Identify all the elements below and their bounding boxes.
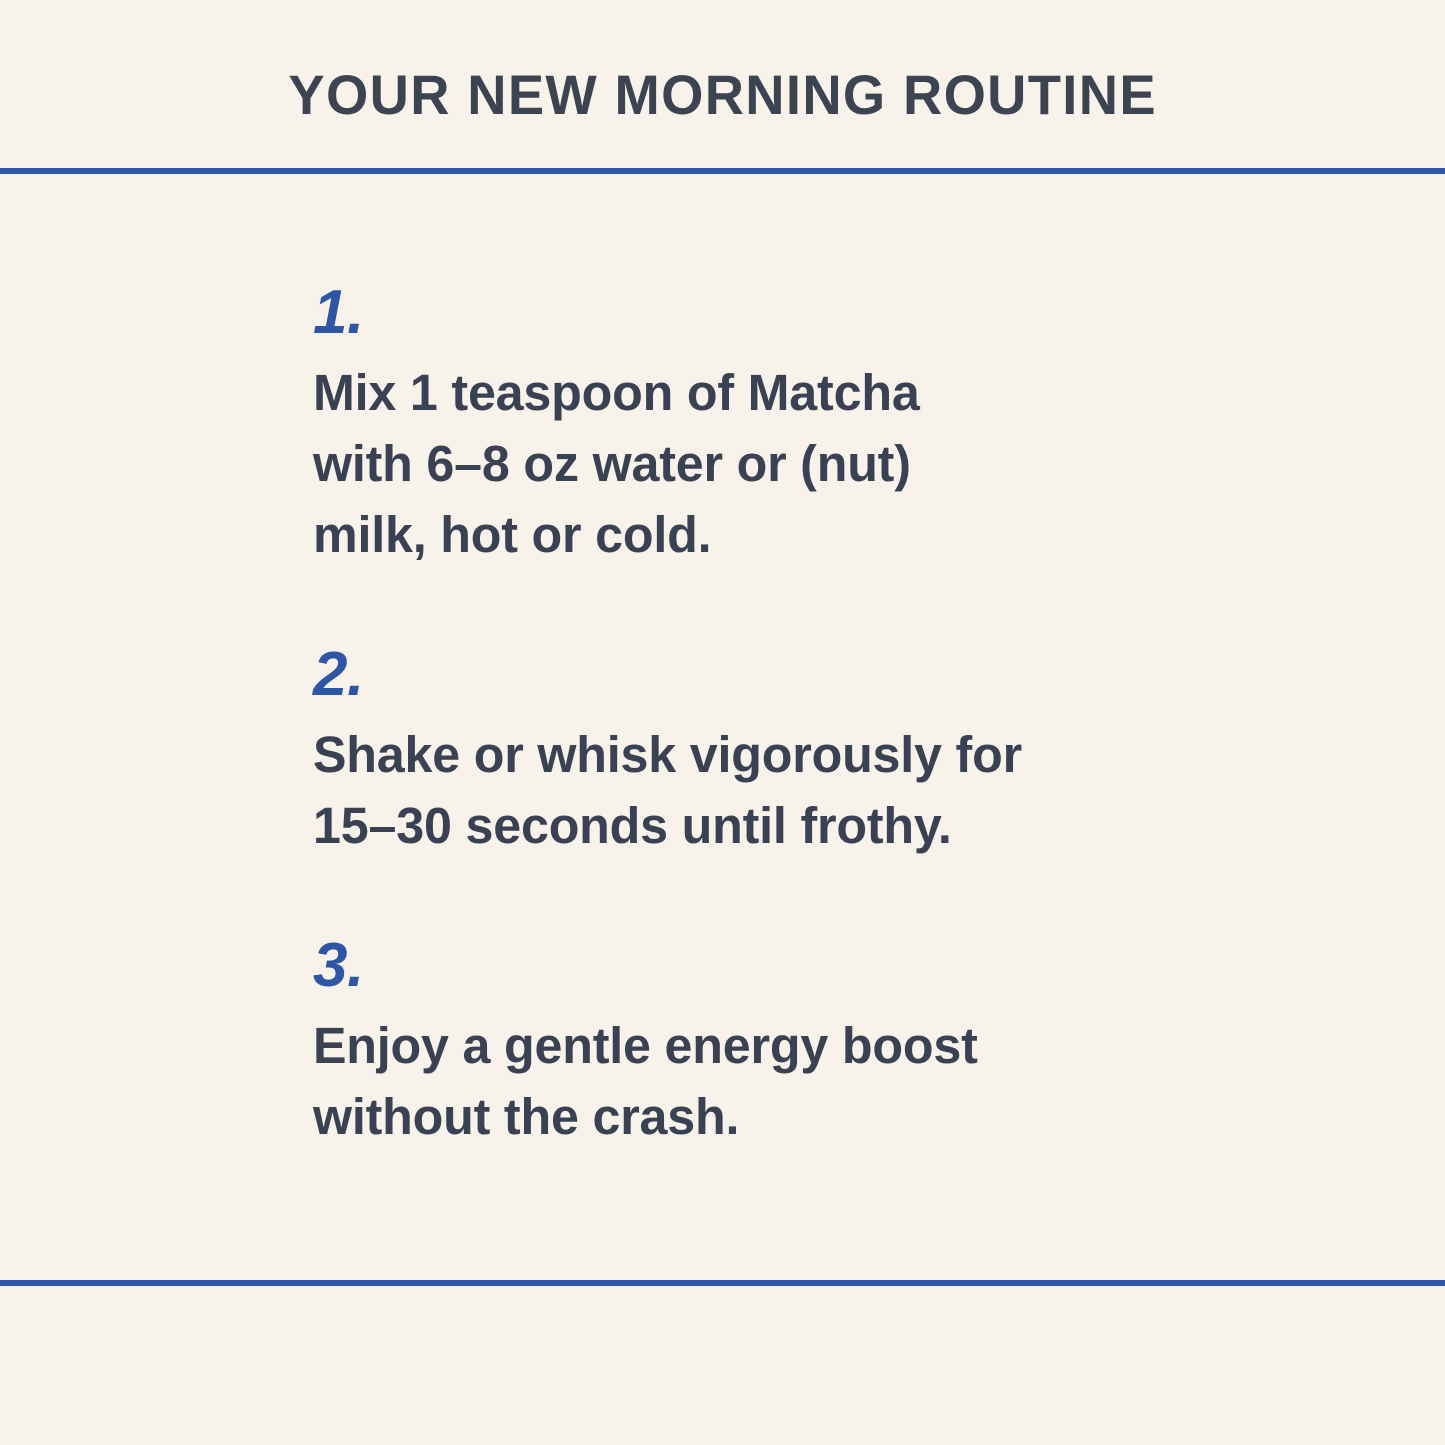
list-item: 2. Shake or whisk vigorously for 15–30 s… — [313, 646, 1445, 861]
page-title: YOUR NEW MORNING ROUTINE — [288, 45, 1157, 123]
poster-header: YOUR NEW MORNING ROUTINE — [0, 0, 1445, 168]
step-number-3: 3. — [313, 937, 1445, 994]
step-number-1: 1. — [313, 284, 1445, 341]
instruction-poster: YOUR NEW MORNING ROUTINE 1. Mix 1 teaspo… — [0, 0, 1445, 1445]
step-text-3: Enjoy a gentle energy boost without the … — [313, 1010, 1140, 1152]
step-number-2: 2. — [313, 646, 1445, 703]
steps-list: 1. Mix 1 teaspoon of Matcha with 6–8 oz … — [0, 168, 1445, 1280]
divider-bottom — [0, 1280, 1445, 1286]
list-item: 1. Mix 1 teaspoon of Matcha with 6–8 oz … — [313, 284, 1445, 570]
list-item: 3. Enjoy a gentle energy boost without t… — [313, 937, 1445, 1152]
step-text-1: Mix 1 teaspoon of Matcha with 6–8 oz wat… — [313, 357, 1140, 570]
step-text-2: Shake or whisk vigorously for 15–30 seco… — [313, 719, 1140, 861]
